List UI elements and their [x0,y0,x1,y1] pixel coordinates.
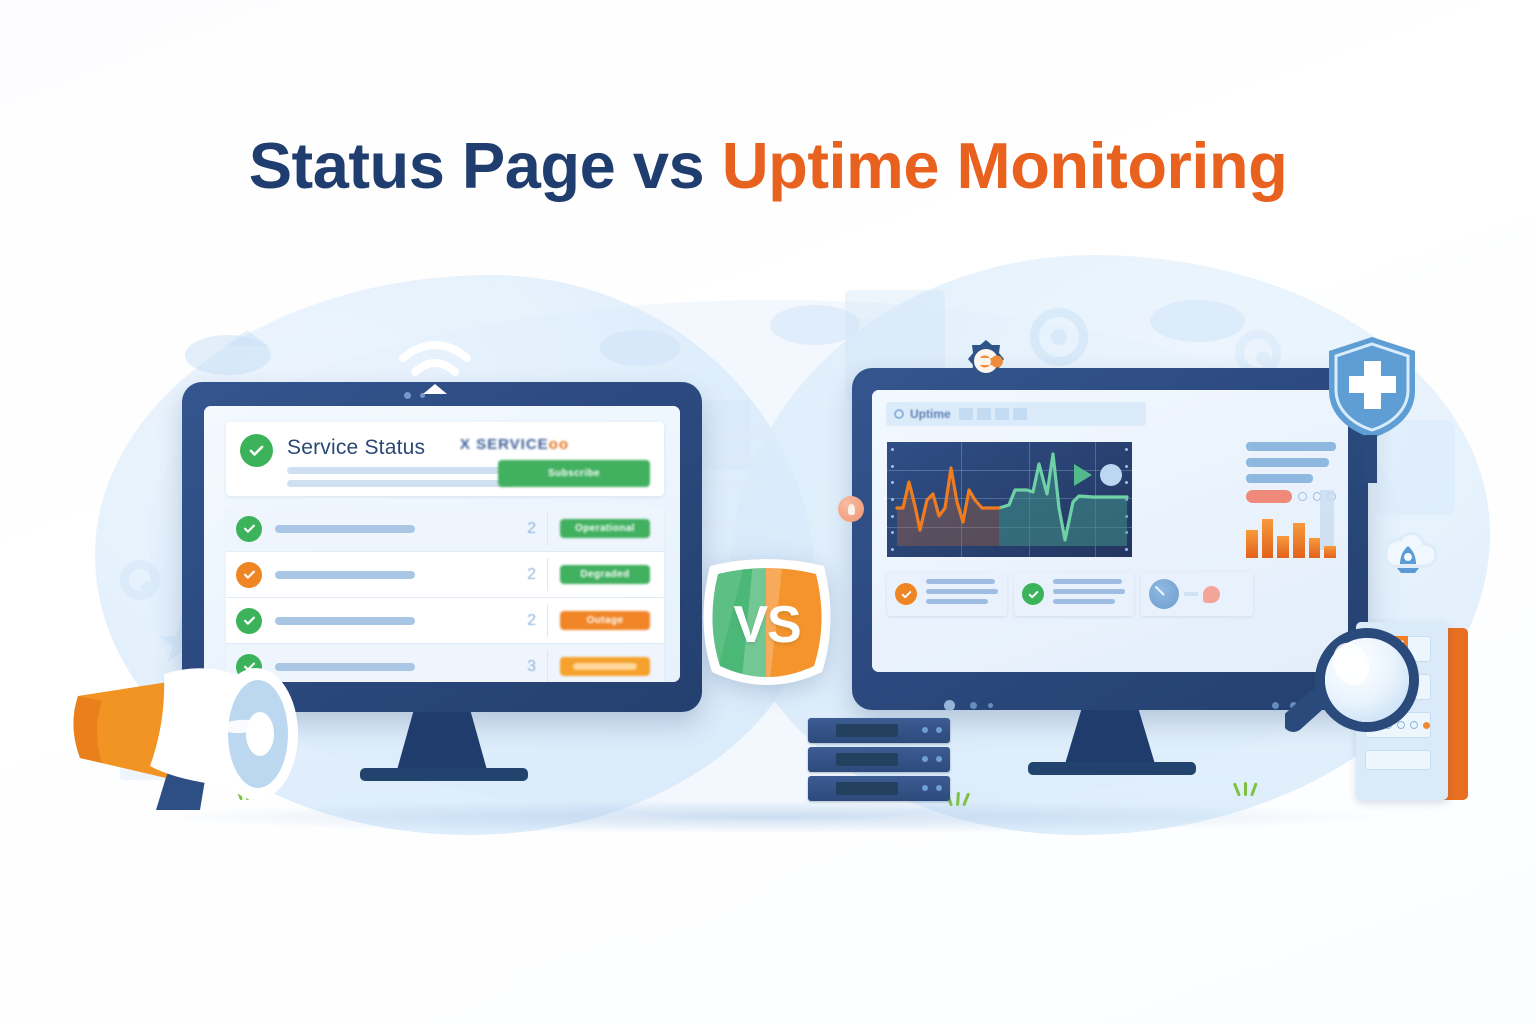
card-text-lines [926,579,999,609]
wifi-icon [395,340,475,398]
watermark-dots: oo [549,436,569,453]
service-status-header-card: Service Status X SERVICEoo Subscribe [226,422,664,496]
play-triangle-icon[interactable] [1074,464,1092,486]
watermark-prefix: X [460,436,471,453]
monitor-stand-base [360,768,528,781]
incident-card[interactable] [887,572,1007,616]
row-count: 2 [527,566,536,584]
dashboard-toolbar[interactable]: Uptime [886,402,1146,426]
row-count: 3 [527,658,536,676]
incident-card[interactable] [1014,572,1134,616]
alert-blob-icon [1203,586,1220,603]
bar [1262,519,1274,558]
cloud-icon [1150,300,1245,342]
cloud-rocket-icon [1372,530,1444,592]
chart-icon [858,318,924,327]
toolbar-blocks [959,408,1027,420]
status-dot-icon [1100,464,1122,486]
gear-badge-icon [963,338,1009,384]
chart-icon [700,520,766,529]
chart-icon [858,340,908,349]
service-watermark-text: X SERVICEoo [460,436,569,453]
cloud-icon [600,330,680,366]
plus-icon [225,330,269,346]
metric-bar [1246,458,1329,467]
vs-label: VS [688,550,846,700]
card-text-lines [1053,579,1126,609]
subscribe-pill-button[interactable]: Subscribe [498,460,650,487]
chart-icon [700,455,760,464]
lock-icon [838,496,864,522]
connector-line [1184,592,1198,596]
speedometer-icon [1149,579,1179,609]
page-title-primary: Status Page vs [249,129,722,202]
chart-series-svg [887,442,1132,557]
row-progress-bar [573,663,638,670]
table-row[interactable]: 2 Degraded [226,552,664,597]
monitor-stand-base [1028,762,1196,775]
camera-dot-icon [1272,702,1279,709]
row-status-pill[interactable] [560,657,650,676]
uptime-bar-chart [1246,508,1336,558]
check-circle-icon [236,516,262,542]
record-circle-icon [894,409,904,419]
illustration-canvas: Status Page vs Uptime Monitoring Service… [0,0,1536,1024]
megaphone-icon [60,618,330,818]
page-title: Status Page vs Uptime Monitoring [0,128,1536,203]
latency-gauge-card[interactable] [1141,572,1253,616]
bar [1309,538,1321,558]
bar [1246,530,1258,558]
bar [1324,546,1336,558]
check-circle-icon [895,583,917,605]
row-count: 2 [527,612,536,630]
bar [1277,536,1289,558]
table-row[interactable]: 2 Operational [226,506,664,551]
server-unit [808,747,950,772]
row-status-pill[interactable]: Degraded [560,565,650,584]
page-title-accent: Uptime Monitoring [722,129,1288,202]
row-count: 2 [527,520,536,538]
check-circle-icon [240,434,273,467]
shield-health-icon [1325,335,1420,440]
server-unit [808,776,950,801]
ring-icon [1298,492,1307,501]
toolbar-label: Uptime [910,407,951,421]
alert-pill [1246,490,1292,503]
watermark-label: SERVICE [476,436,549,453]
gear-icon [120,560,160,600]
metric-bar [1246,474,1313,483]
camera-dot-icon [988,703,993,708]
row-status-pill[interactable]: Operational [560,519,650,538]
server-unit [808,718,950,743]
gear-icon [1030,308,1088,366]
chart-icon [700,480,770,489]
chart-icon [700,430,775,439]
vs-badge: VS [688,550,846,700]
camera-dot-icon [944,700,955,711]
camera-dot-icon [970,702,977,709]
check-circle-icon [1022,583,1044,605]
bar [1293,523,1305,558]
check-circle-icon [236,562,262,588]
server-stack-icon [808,718,958,808]
response-time-chart[interactable] [887,442,1132,557]
magnifying-glass-icon [1285,620,1420,770]
metric-bar [1246,442,1336,451]
monitor-screen: Uptime [872,390,1348,672]
row-status-pill[interactable]: Outage [560,611,650,630]
